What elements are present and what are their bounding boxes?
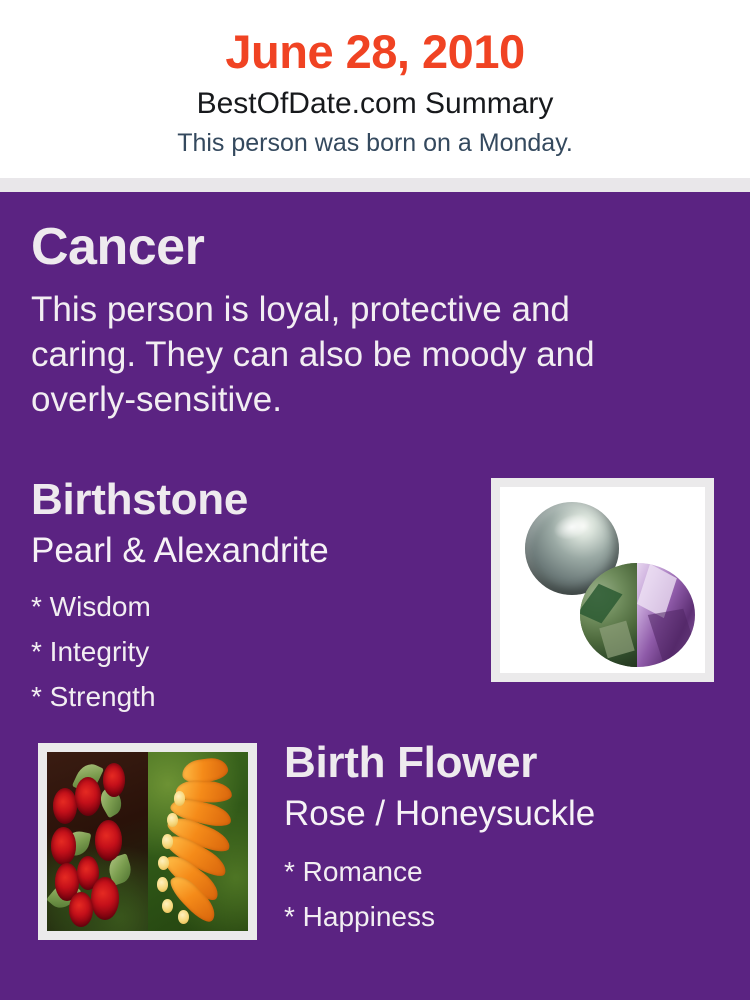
list-item: * Strength xyxy=(31,674,156,719)
birth-flower-photo-frame xyxy=(38,743,257,940)
summary-page: June 28, 2010 BestOfDate.com Summary Thi… xyxy=(0,0,750,1000)
zodiac-sign-title: Cancer xyxy=(31,217,204,277)
birthstone-photo xyxy=(500,487,705,673)
page-header: June 28, 2010 BestOfDate.com Summary Thi… xyxy=(0,0,750,178)
honeysuckle-half xyxy=(148,752,249,931)
header-divider xyxy=(0,178,750,192)
alexandrite-rough-half xyxy=(580,563,637,667)
birthstone-heading: Birthstone xyxy=(31,474,248,526)
birth-flower-heading: Birth Flower xyxy=(284,737,537,789)
list-item: * Integrity xyxy=(31,629,156,674)
list-item: * Happiness xyxy=(284,894,435,939)
alexandrite-faceted-half xyxy=(637,563,694,667)
born-weekday-text: This person was born on a Monday. xyxy=(0,128,750,158)
page-title-date: June 28, 2010 xyxy=(0,24,750,80)
birthstone-photo-frame xyxy=(491,478,714,682)
list-item: * Wisdom xyxy=(31,584,156,629)
birthstone-traits-list: * Wisdom * Integrity * Strength xyxy=(31,584,156,719)
alexandrite-icon xyxy=(580,563,695,667)
list-item: * Romance xyxy=(284,849,435,894)
birth-flower-traits-list: * Romance * Happiness xyxy=(284,849,435,939)
roses-half xyxy=(47,752,148,931)
birth-flower-image-canvas xyxy=(47,752,248,931)
birth-flower-photo xyxy=(47,752,248,931)
content-body: Cancer This person is loyal, protective … xyxy=(0,192,750,1000)
zodiac-description: This person is loyal, protective and car… xyxy=(31,287,651,422)
birthstone-names: Pearl & Alexandrite xyxy=(31,530,329,572)
birthstone-image-canvas xyxy=(500,487,705,673)
site-summary-label: BestOfDate.com Summary xyxy=(0,86,750,122)
birth-flower-names: Rose / Honeysuckle xyxy=(284,793,595,835)
